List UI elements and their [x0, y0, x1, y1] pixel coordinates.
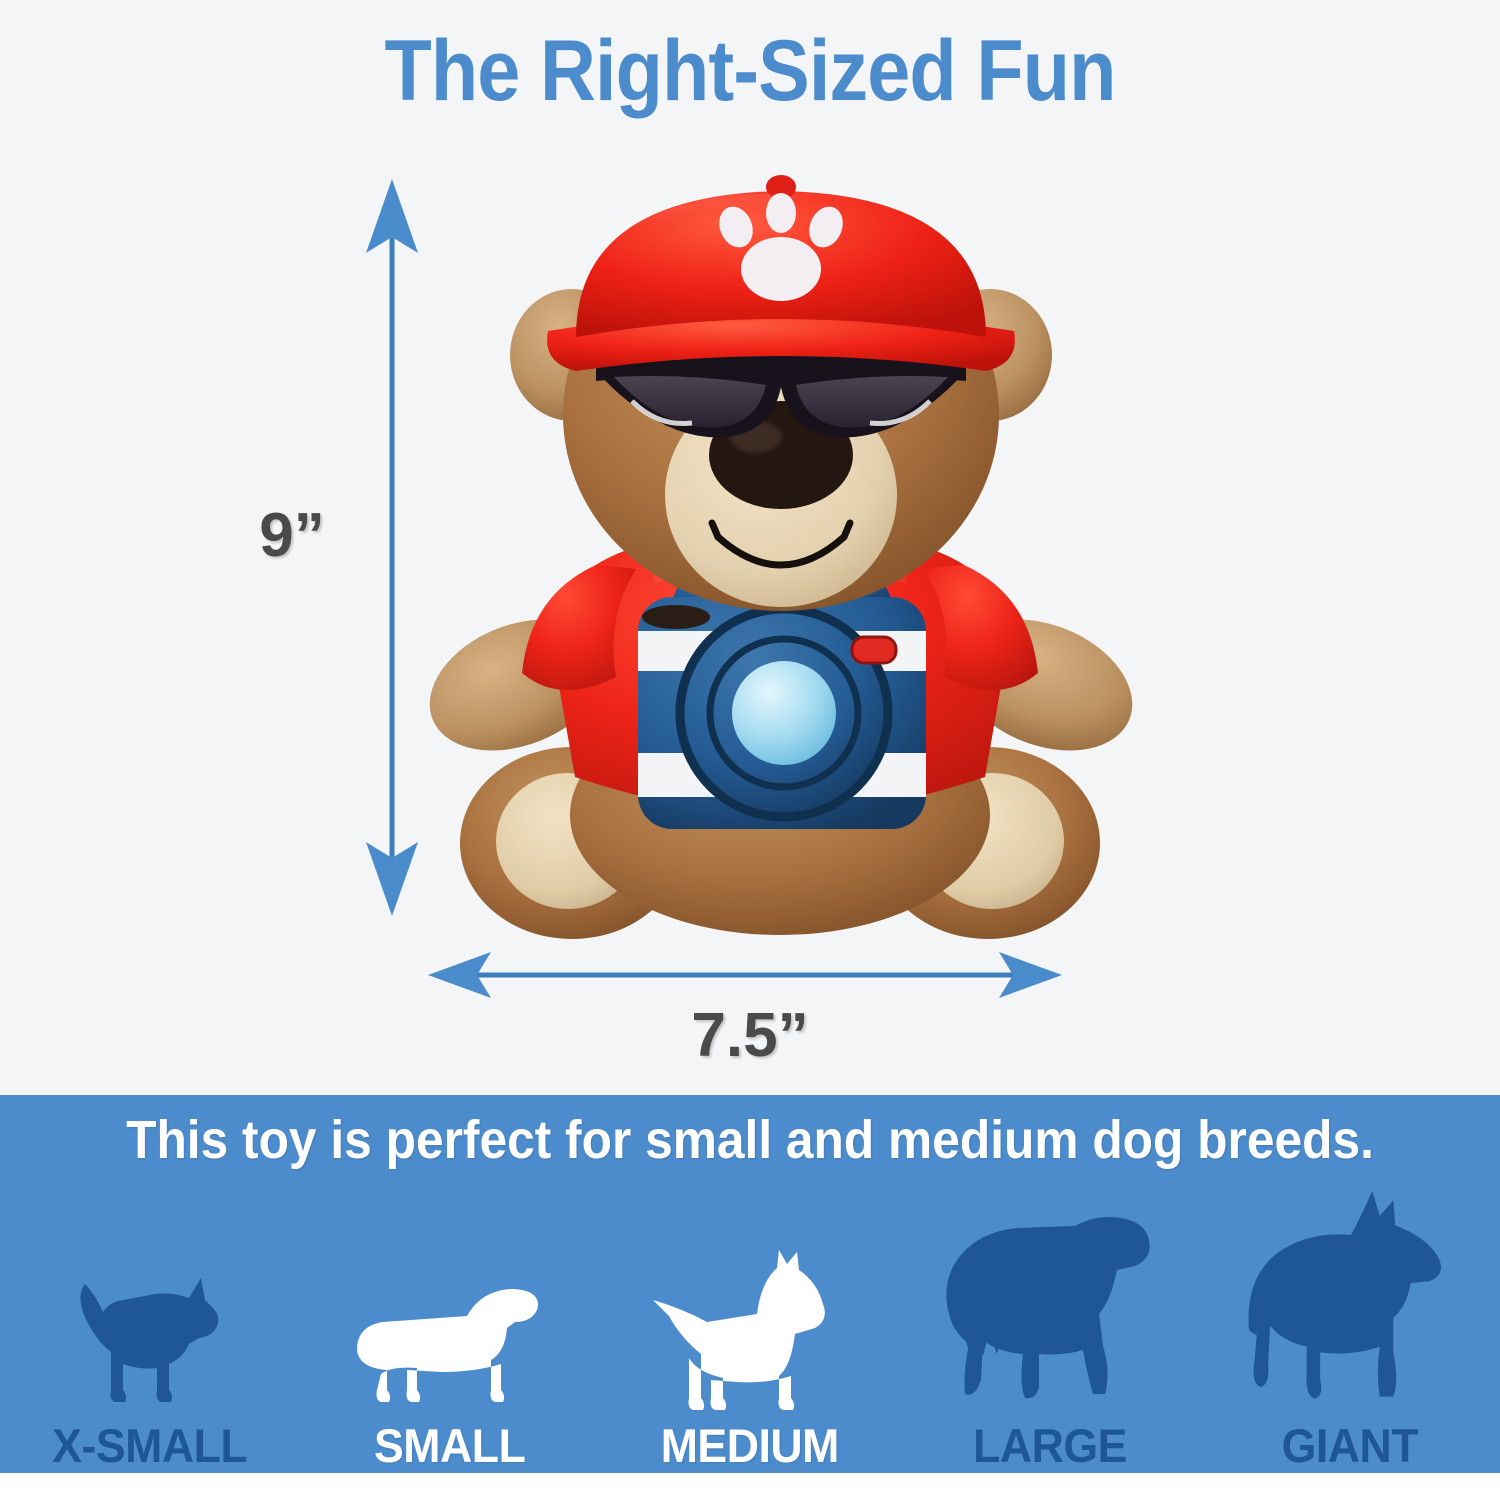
breed-size-x-small[interactable]: X-SMALL [0, 1183, 300, 1473]
dachshund-silhouette-icon [345, 1264, 555, 1414]
breed-size-medium[interactable]: MEDIUM [600, 1183, 900, 1473]
page-title: The Right-Sized Fun [75, 22, 1425, 121]
breed-size-giant[interactable]: GIANT [1200, 1183, 1500, 1473]
breed-size-large[interactable]: LARGE [900, 1183, 1200, 1473]
breed-label-small: SMALL [374, 1418, 525, 1473]
breed-label-large: LARGE [973, 1418, 1127, 1473]
bull-terrier-silhouette-icon [645, 1242, 855, 1414]
breed-size-row: X-SMALL SMALL MEDIUM LARGE [0, 1183, 1500, 1473]
plush-teddy-bear-toy-image [400, 165, 1160, 955]
banner-headline: This toy is perfect for small and medium… [60, 1109, 1440, 1171]
breed-label-x-small: X-SMALL [52, 1418, 247, 1473]
width-measurement-label: 7.5” [560, 1000, 940, 1071]
breed-label-giant: GIANT [1282, 1418, 1419, 1473]
breed-label-medium: MEDIUM [661, 1418, 839, 1473]
chihuahua-silhouette-icon [65, 1264, 235, 1414]
dog-size-banner: This toy is perfect for small and medium… [0, 1095, 1500, 1473]
great-dane-silhouette-icon [1235, 1183, 1465, 1414]
golden-retriever-silhouette-icon [935, 1204, 1165, 1414]
bear-baseball-cap [547, 175, 1015, 371]
height-measurement-label: 9” [222, 500, 362, 571]
product-dimension-panel: The Right-Sized Fun 9” 7.5” [0, 0, 1500, 1095]
breed-size-small[interactable]: SMALL [300, 1183, 600, 1473]
